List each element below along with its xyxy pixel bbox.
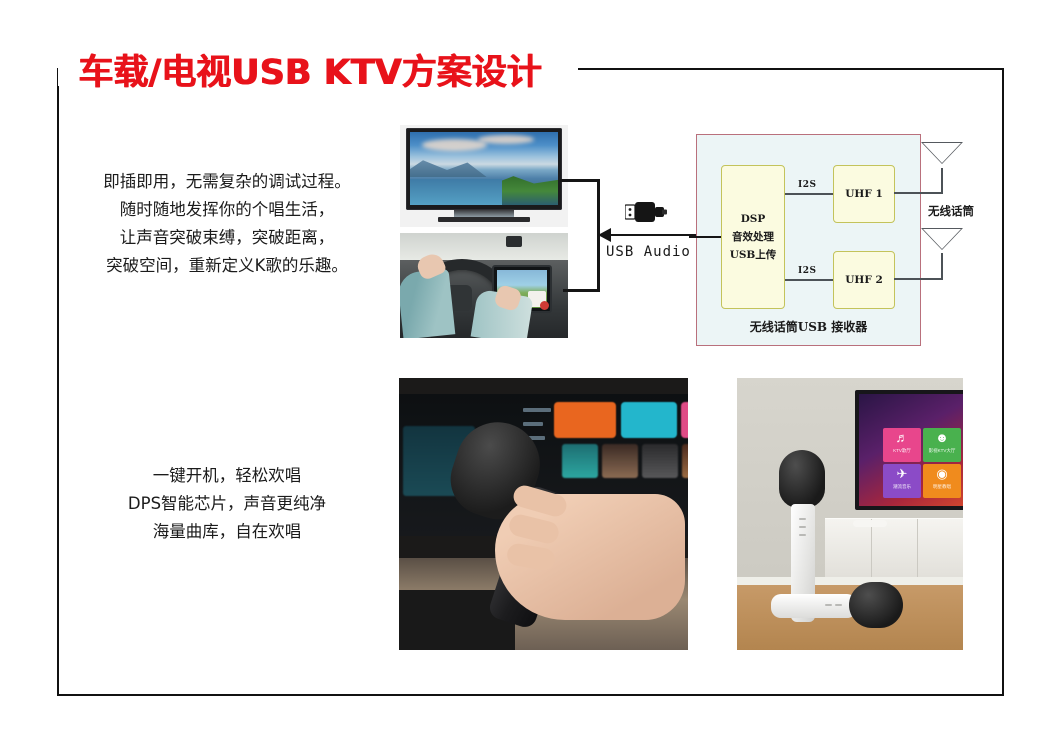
tv-tile-3-glyph: ✈ [883, 464, 921, 484]
feature-paragraph: 一键开机，轻松欢唱 DPS智能芯片，声音更纯净 海量曲库，自在欢唱 [72, 462, 382, 546]
living-room-photo: ♬ KTV歌厅 ☻ 影视KTV大厅 ✈ 潮流音乐 ◉ 明星教唱 [737, 378, 963, 650]
tv-tile-1-label: KTV歌厅 [883, 448, 921, 454]
i2s-wire-1 [785, 193, 833, 195]
i2s-label-1: I2S [798, 180, 816, 190]
link-tv-branch [560, 179, 600, 182]
i2s-wire-2 [785, 279, 833, 281]
dsp-line-2: 音效处理 [732, 228, 774, 246]
remote-control [853, 520, 887, 527]
usb-audio-label: USB Audio [606, 244, 691, 260]
intro-line-3: 让声音突破束缚，突破距离， [72, 224, 382, 252]
dsp-line-3: USB上传 [730, 246, 777, 264]
intro-paragraph: 即插即用，无需复杂的调试过程。 随时随地发挥你的个唱生活， 让声音突破束缚，突破… [72, 168, 382, 280]
tv-tile-1: ♬ KTV歌厅 [883, 428, 921, 462]
feature-line-2: DPS智能芯片，声音更纯净 [72, 490, 382, 518]
feature-line-1: 一键开机，轻松欢唱 [72, 462, 382, 490]
antenna-1-wire-v [941, 168, 943, 194]
uhf1-block: UHF 1 [833, 165, 895, 223]
tv-tile-2: ☻ 影视KTV大厅 [923, 428, 961, 462]
usb-entry-wire [689, 236, 721, 238]
tv-bezel [406, 128, 562, 210]
link-car-branch [563, 289, 600, 292]
car-interior-photo [400, 233, 568, 338]
microphone-2-body [771, 594, 857, 618]
intro-line-1: 即插即用，无需复杂的调试过程。 [72, 168, 382, 196]
usb-plug-icon [625, 200, 667, 224]
tv-tile-4: ◉ 明星教唱 [923, 464, 961, 498]
antenna-1-icon [921, 142, 963, 164]
tv-tile-3-label: 潮流音乐 [883, 484, 921, 490]
tv-cabinet [825, 518, 963, 577]
tv-screen-image [410, 132, 558, 205]
wireless-mic-label: 无线话筒 [928, 203, 974, 219]
tv-app-grid: ♬ KTV歌厅 ☻ 影视KTV大厅 ✈ 潮流音乐 ◉ 明星教唱 [859, 394, 963, 506]
uhf2-block: UHF 2 [833, 251, 895, 309]
rearview-mirror [506, 236, 522, 247]
microphone-1-foam-head [779, 450, 825, 508]
usb-audio-connection [560, 170, 705, 305]
tv-tile-1-glyph: ♬ [883, 428, 921, 448]
intro-line-2: 随时随地发挥你的个唱生活， [72, 196, 382, 224]
tv-tile-4-glyph: ◉ [923, 464, 961, 484]
microphone-2-foam-head [849, 582, 903, 628]
i2s-label-2: I2S [798, 266, 816, 276]
tv-stand-base [438, 217, 530, 222]
receiver-block-diagram: DSP 音效处理 USB上传 UHF 1 UHF 2 I2S I2S 无线话筒U… [696, 134, 921, 346]
tv-tile-2-label: 影视KTV大厅 [923, 448, 961, 454]
feature-line-3: 海量曲库，自在欢唱 [72, 518, 382, 546]
dsp-line-1: DSP [741, 210, 766, 228]
dsp-block: DSP 音效处理 USB上传 [721, 165, 785, 309]
antenna-2-wire-h [894, 278, 943, 280]
intro-line-4: 突破空间，重新定义K歌的乐趣。 [72, 252, 382, 280]
tv-tile-3: ✈ 潮流音乐 [883, 464, 921, 498]
mic-in-car-photo [399, 378, 688, 650]
receiver-caption: 无线话筒USB 接收器 [697, 318, 920, 335]
antenna-1-wire-h [894, 192, 943, 194]
living-room-tv: ♬ KTV歌厅 ☻ 影视KTV大厅 ✈ 潮流音乐 ◉ 明星教唱 [855, 390, 963, 510]
tv-tile-2-glyph: ☻ [923, 428, 961, 448]
usb-audio-arrowhead [598, 228, 611, 242]
page-title: 车载/电视USB KTV方案设计 [78, 44, 541, 95]
tv-tile-4-label: 明星教唱 [923, 484, 961, 490]
antenna-2-icon [921, 228, 963, 250]
tv-photo [400, 125, 568, 227]
antenna-2-wire-v [941, 253, 943, 280]
tv-stand-neck [454, 210, 514, 217]
